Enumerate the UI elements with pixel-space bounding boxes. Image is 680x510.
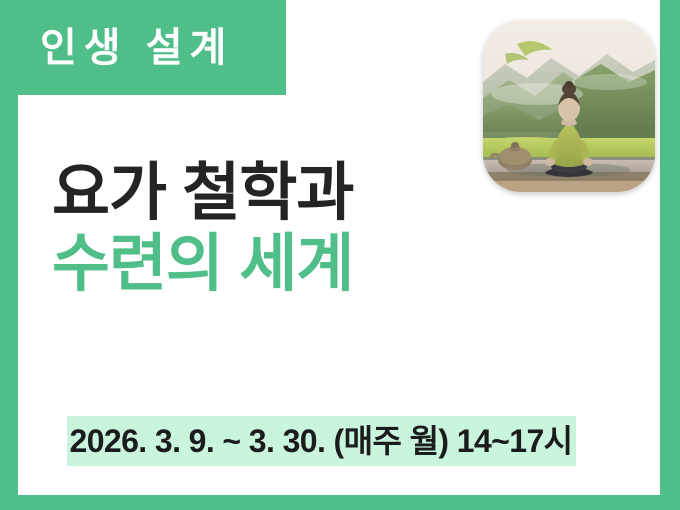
- headline: 요가 철학과 수련의 세계: [52, 158, 612, 299]
- brand-banner: 인생 설계: [0, 0, 286, 95]
- schedule-strip: 2026. 3. 9. ~ 3. 30. (매주 월) 14~17시: [0, 416, 642, 466]
- headline-line-1: 요가 철학과: [52, 158, 612, 229]
- headline-line-2: 수련의 세계: [52, 229, 612, 300]
- schedule-text: 2026. 3. 9. ~ 3. 30. (매주 월) 14~17시: [67, 416, 576, 466]
- brand-banner-label: 인생 설계: [0, 28, 233, 68]
- poster-canvas: 인생 설계: [0, 0, 680, 510]
